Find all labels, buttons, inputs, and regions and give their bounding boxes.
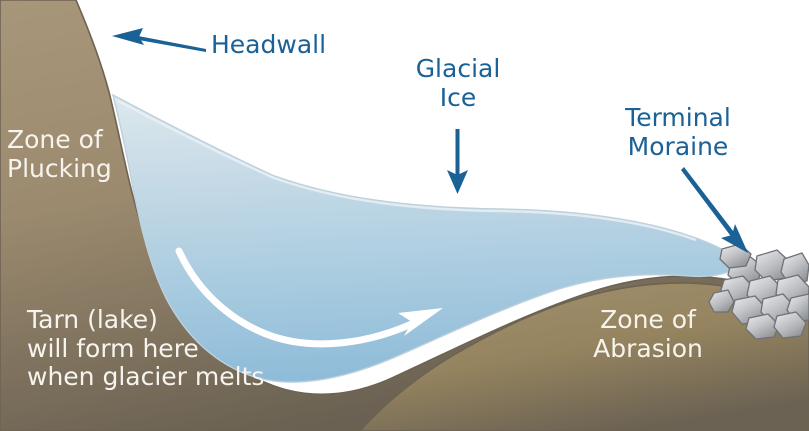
glacial-diagram: Zone of Plucking Tarn (lake) will form h… [0,0,809,431]
glacial-ice-arrow-shaft [456,129,460,177]
headwall-arrow-head [112,28,144,45]
glacial-ice-arrow [447,129,468,194]
headwall-arrow [112,28,206,52]
moraine-rock [720,244,751,268]
diagram-canvas [0,0,809,431]
terminal-moraine-arrow-shaft [681,167,740,243]
headwall-arrow-shaft [133,35,206,52]
